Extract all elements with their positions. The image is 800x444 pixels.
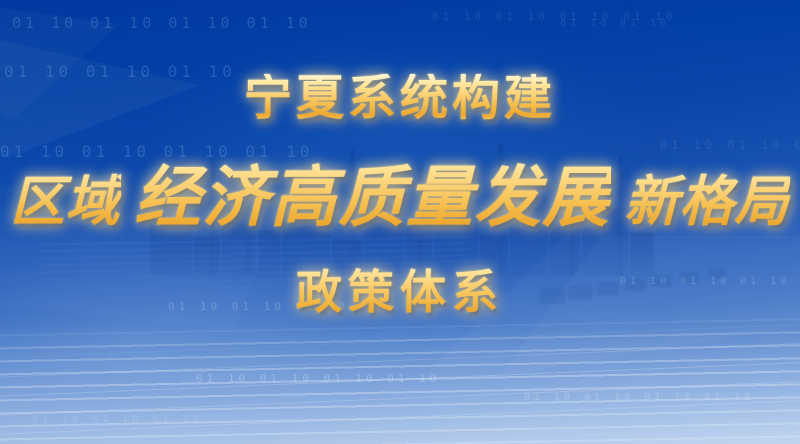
headline-line-2: 区域 经济高质量发展 新格局 — [11, 144, 790, 240]
headline-line-2-prefix: 区域 — [11, 157, 121, 236]
headline-line-2-suffix: 新格局 — [625, 157, 790, 236]
headline-line-3: 政策体系 — [296, 256, 504, 322]
headline-line-1: 宁夏系统构建 — [244, 74, 556, 122]
headline-block: 宁夏系统构建 区域 经济高质量发展 新格局 政策体系 — [0, 0, 800, 444]
headline-line-2-emphasis: 经济高质量发展 — [135, 144, 611, 240]
promo-banner: 01 10 01 10 01 10 01 1001 10 01 10 01 10… — [0, 0, 800, 444]
